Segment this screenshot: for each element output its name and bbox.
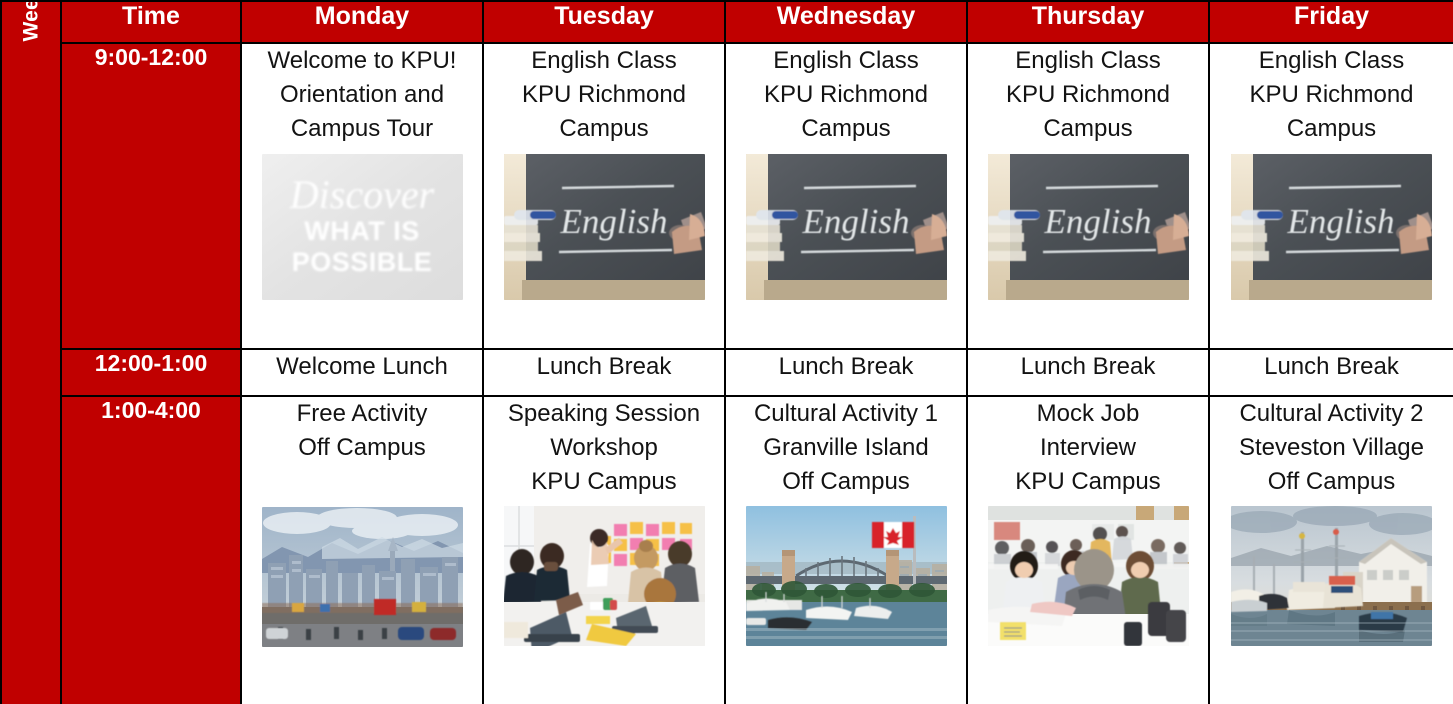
cell-text: Welcome to KPU! Orientation and Campus T… [242,44,482,145]
header-day-thursday: Thursday [967,1,1209,43]
cell-line: KPU Richmond [488,78,720,112]
cell-line: English Class [1214,44,1449,78]
thumbnail-wrap [1210,506,1453,646]
english-chalkboard-image: English [1231,154,1432,300]
cell-friday-morning[interactable]: English Class KPU Richmond Campus [1209,43,1453,349]
cell-thursday-morning[interactable]: English Class KPU Richmond Campus [967,43,1209,349]
cell-tuesday-morning[interactable]: English Class KPU Richmond Campus [483,43,725,349]
cell-line: Off Campus [730,465,962,499]
lunch-row: 12:00-1:00 Welcome Lunch Lunch Break Lun… [1,349,1453,396]
thumbnail-wrap: English [1210,154,1453,300]
morning-row: 9:00-12:00 Welcome to KPU! Orientation a… [1,43,1453,349]
cell-line: Steveston Village [1214,431,1449,465]
cell-line: KPU Campus [972,465,1204,499]
thumbnail-wrap [968,506,1208,646]
svg-text:Discover: Discover [288,172,434,217]
cell-line: Cultural Activity 2 [1214,397,1449,431]
cell-line: Speaking Session [488,397,720,431]
cell-line: Granville Island [730,431,962,465]
mock-job-interview-image [988,506,1189,646]
cell-line: English Class [730,44,962,78]
svg-text:English: English [559,202,667,241]
english-chalkboard-image: English [504,154,705,300]
cell-line: Campus [488,112,720,146]
thumbnail-wrap [484,506,724,646]
cell-line: Lunch Break [730,350,962,384]
svg-text:English: English [1043,202,1151,241]
cell-line: Campus [730,112,962,146]
cell-line: Orientation and [246,78,478,112]
cell-line: Interview [972,431,1204,465]
thumbnail-wrap: English [484,154,724,300]
cell-line: Lunch Break [488,350,720,384]
cell-line: Lunch Break [1214,350,1449,384]
cell-line: Campus [1214,112,1449,146]
cell-text: Cultural Activity 1 Granville Island Off… [726,397,966,498]
cell-text: Lunch Break [1210,350,1453,384]
svg-text:WHAT IS: WHAT IS [304,216,419,246]
english-chalkboard-image: English [988,154,1189,300]
cell-text: Lunch Break [484,350,724,384]
afternoon-row: 1:00-4:00 Free Activity Off Campus [1,396,1453,704]
time-slot-lunch: 12:00-1:00 [61,349,241,396]
cell-text: Lunch Break [968,350,1208,384]
week-label-cell: Week 1 [1,1,61,704]
thumbnail-wrap [242,507,482,647]
cell-line: Lunch Break [972,350,1204,384]
svg-text:English: English [1287,202,1395,241]
cell-line: Free Activity [246,397,478,431]
header-day-friday: Friday [1209,1,1453,43]
cell-line: Off Campus [246,431,478,465]
svg-text:English: English [801,202,909,241]
workshop-meeting-image [504,506,705,646]
cell-wednesday-afternoon[interactable]: Cultural Activity 1 Granville Island Off… [725,396,967,704]
english-chalkboard-image: English [746,154,947,300]
cell-line: Welcome to KPU! [246,44,478,78]
header-day-wednesday: Wednesday [725,1,967,43]
header-day-tuesday: Tuesday [483,1,725,43]
thumbnail-wrap: English [726,154,966,300]
kpu-discover-what-is-possible-image: Discover WHAT IS POSSIBLE [262,154,463,300]
cell-monday-morning[interactable]: Welcome to KPU! Orientation and Campus T… [241,43,483,349]
cell-friday-lunch[interactable]: Lunch Break [1209,349,1453,396]
thumbnail-wrap [726,506,966,646]
week-label: Week 1 [21,1,42,42]
cell-line: English Class [972,44,1204,78]
time-slot-morning: 9:00-12:00 [61,43,241,349]
cell-line: Campus [972,112,1204,146]
cell-line: Workshop [488,431,720,465]
cell-line: English Class [488,44,720,78]
weekly-schedule-table: Week 1 Time Monday Tuesday Wednesday Thu… [0,0,1453,704]
cell-thursday-afternoon[interactable]: Mock Job Interview KPU Campus [967,396,1209,704]
cell-line: Off Campus [1214,465,1449,499]
cell-text: Welcome Lunch [242,350,482,384]
cell-text: English Class KPU Richmond Campus [968,44,1208,145]
cell-text: Mock Job Interview KPU Campus [968,397,1208,498]
thumbnail-wrap: English [968,154,1208,300]
cell-text: English Class KPU Richmond Campus [484,44,724,145]
schedule-grid: Week 1 Time Monday Tuesday Wednesday Thu… [0,0,1453,704]
cell-text: Cultural Activity 2 Steveston Village Of… [1210,397,1453,498]
cell-text: Free Activity Off Campus [242,397,482,465]
vancouver-cityscape-image [262,507,463,647]
cell-tuesday-afternoon[interactable]: Speaking Session Workshop KPU Campus [483,396,725,704]
cell-line: Campus Tour [246,112,478,146]
cell-line: Cultural Activity 1 [730,397,962,431]
cell-monday-lunch[interactable]: Welcome Lunch [241,349,483,396]
granville-island-bridge-image [746,506,947,646]
cell-wednesday-morning[interactable]: English Class KPU Richmond Campus [725,43,967,349]
header-day-monday: Monday [241,1,483,43]
cell-line: KPU Campus [488,465,720,499]
time-slot-afternoon: 1:00-4:00 [61,396,241,704]
cell-text: English Class KPU Richmond Campus [1210,44,1453,145]
cell-text: Speaking Session Workshop KPU Campus [484,397,724,498]
steveston-village-harbour-image [1231,506,1432,646]
cell-wednesday-lunch[interactable]: Lunch Break [725,349,967,396]
cell-friday-afternoon[interactable]: Cultural Activity 2 Steveston Village Of… [1209,396,1453,704]
cell-line: Welcome Lunch [246,350,478,384]
cell-line: Mock Job [972,397,1204,431]
header-time: Time [61,1,241,43]
cell-thursday-lunch[interactable]: Lunch Break [967,349,1209,396]
cell-line: KPU Richmond [1214,78,1449,112]
cell-text: Lunch Break [726,350,966,384]
thumbnail-wrap: Discover WHAT IS POSSIBLE [242,154,482,300]
header-row: Week 1 Time Monday Tuesday Wednesday Thu… [1,1,1453,43]
svg-text:POSSIBLE: POSSIBLE [291,247,432,277]
cell-text: English Class KPU Richmond Campus [726,44,966,145]
cell-monday-afternoon[interactable]: Free Activity Off Campus [241,396,483,704]
cell-line: KPU Richmond [972,78,1204,112]
cell-line: KPU Richmond [730,78,962,112]
cell-tuesday-lunch[interactable]: Lunch Break [483,349,725,396]
